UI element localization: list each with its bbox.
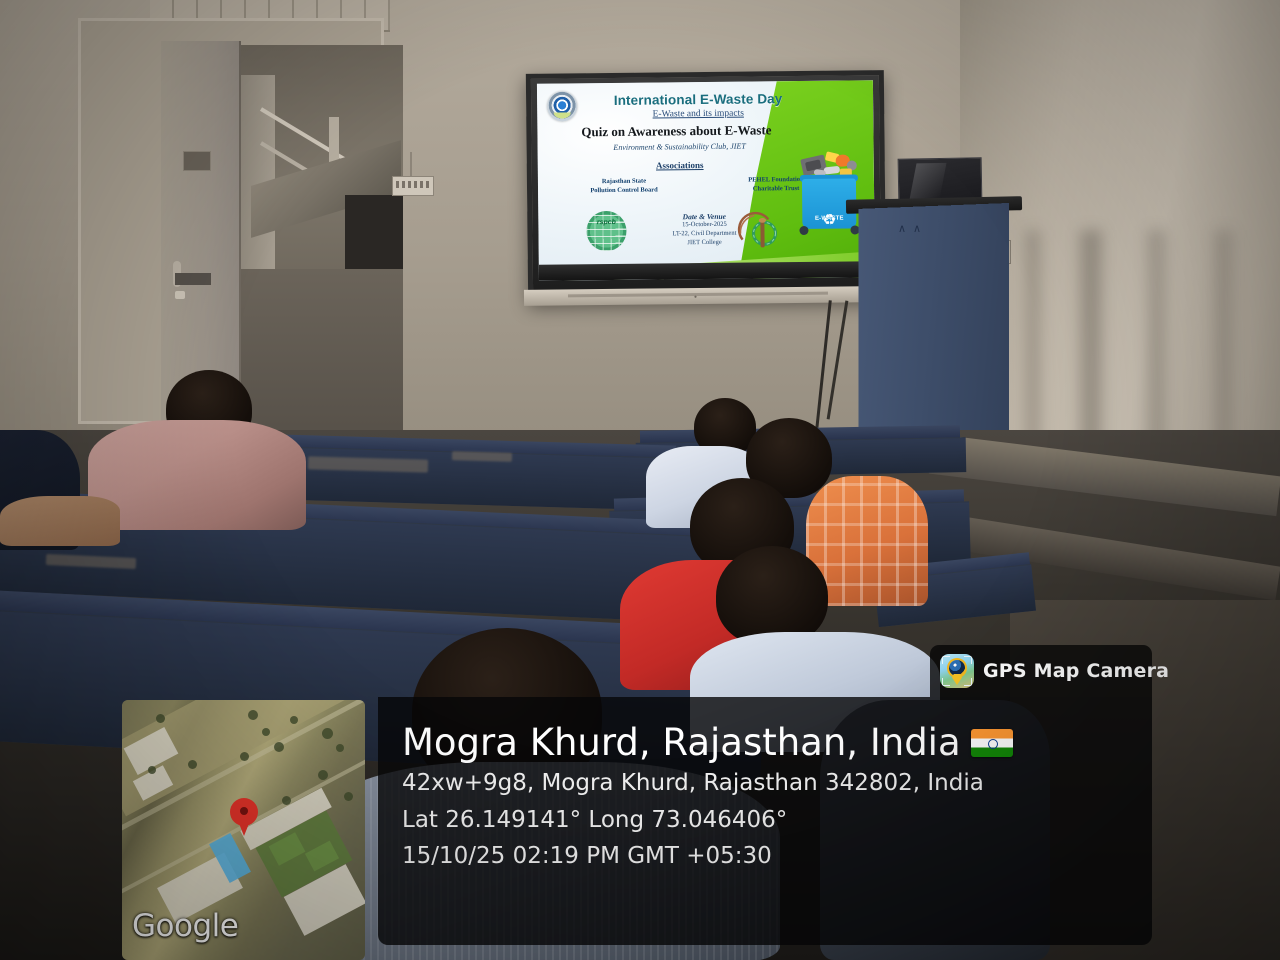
presentation-slide: International E-Waste Day E-Waste and it… (537, 80, 875, 281)
electrical-conduit (410, 152, 412, 178)
gps-address: 42xw+9g8, Mogra Khurd, Rajasthan 342802,… (402, 767, 1152, 800)
bin-wheel-left (799, 226, 808, 235)
jiet-emblem-logo (547, 91, 577, 121)
pehel-foundation-logo (734, 209, 778, 251)
ewaste-bin-graphic: ♻ E-WASTE (798, 150, 861, 237)
map-pin-icon (952, 673, 962, 685)
viewfinder-corner-bl (942, 678, 950, 686)
gps-map-camera-badge: GPS Map Camera (930, 645, 1152, 697)
door-lock[interactable] (175, 291, 185, 299)
slide-subtitle: E-Waste and its impacts (599, 108, 797, 120)
gps-info-panel: Mogra Khurd, Rajasthan, India 42xw+9g8, … (378, 697, 1152, 945)
gps-place-row: Mogra Khurd, Rajasthan, India (402, 723, 1152, 763)
slide-heading: Quiz on Awareness about E-Waste (551, 122, 801, 141)
display-brand-mark: ● (694, 294, 697, 300)
bin-label: E-WASTE (802, 215, 856, 222)
map-tree (262, 728, 270, 736)
podium-marking: ∧∧ (898, 222, 928, 235)
door-frame (78, 18, 384, 424)
india-flag-icon (971, 729, 1013, 757)
map-tree (282, 796, 291, 805)
viewfinder-corner-br (964, 678, 972, 686)
viewfinder-corner-tl (942, 656, 950, 664)
map-tree (240, 752, 249, 761)
association-left: Rajasthan State Pollution Control Board (564, 177, 684, 196)
gps-coordinates: Lat 26.149141° Long 73.046406° (402, 804, 1152, 837)
map-tree (322, 728, 333, 739)
gps-map-camera-icon (940, 654, 974, 688)
map-tree (156, 714, 165, 723)
map-tree (344, 792, 353, 801)
map-tree (336, 744, 344, 752)
student-head (716, 546, 828, 646)
corridor-shadow (345, 195, 403, 275)
gps-app-label: GPS Map Camera (983, 660, 1169, 682)
display-screen: International E-Waste Day E-Waste and it… (537, 80, 875, 281)
map-tree (248, 710, 258, 720)
electrical-switch-box (392, 176, 434, 196)
google-watermark: Google (132, 908, 238, 944)
camera-lens-icon (949, 660, 965, 676)
pin-dot (240, 807, 248, 815)
map-tree (290, 716, 298, 724)
student-torso (88, 420, 306, 530)
gps-place-text: Mogra Khurd, Rajasthan, India (402, 723, 961, 763)
rspcb-globe-logo: rspcb (586, 211, 626, 251)
map-tree (148, 766, 156, 774)
viewfinder-corner-tr (964, 656, 972, 664)
door-push-plate (175, 273, 211, 285)
map-tree (274, 742, 284, 752)
door-vent (183, 151, 211, 171)
interactive-display-panel[interactable]: International E-Waste Day E-Waste and it… (526, 70, 886, 302)
bench-scuff-2 (452, 451, 512, 462)
map-tree (188, 760, 197, 769)
gps-timestamp: 15/10/25 02:19 PM GMT +05:30 (402, 840, 1152, 873)
slide-club-line: Environment & Sustainability Club, JIET (564, 141, 796, 152)
map-tree (318, 770, 328, 780)
student-arm (0, 496, 120, 546)
corridor-floor (233, 269, 403, 437)
display-bottom-bezel (539, 261, 875, 281)
mount-strip (568, 292, 828, 298)
map-thumbnail[interactable]: Google (122, 700, 365, 960)
stair-post (329, 117, 339, 165)
laptop-screen-glare (909, 163, 946, 200)
gps-map-camera-photo: International E-Waste Day E-Waste and it… (0, 0, 1280, 960)
map-location-pin (230, 798, 258, 836)
doorway-to-stairwell (233, 45, 403, 437)
slide-title: International E-Waste Day (599, 91, 797, 108)
